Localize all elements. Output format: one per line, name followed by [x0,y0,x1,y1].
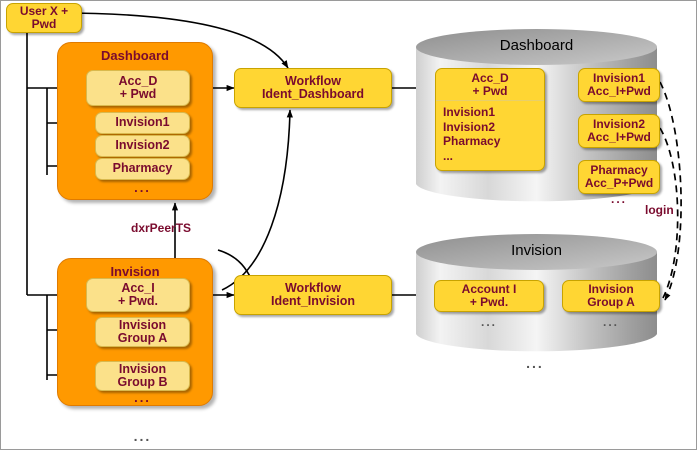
diagram-canvas: User X + Pwd Dashboard Acc_D + Pwd Invis… [0,0,697,450]
image-border [0,0,697,450]
